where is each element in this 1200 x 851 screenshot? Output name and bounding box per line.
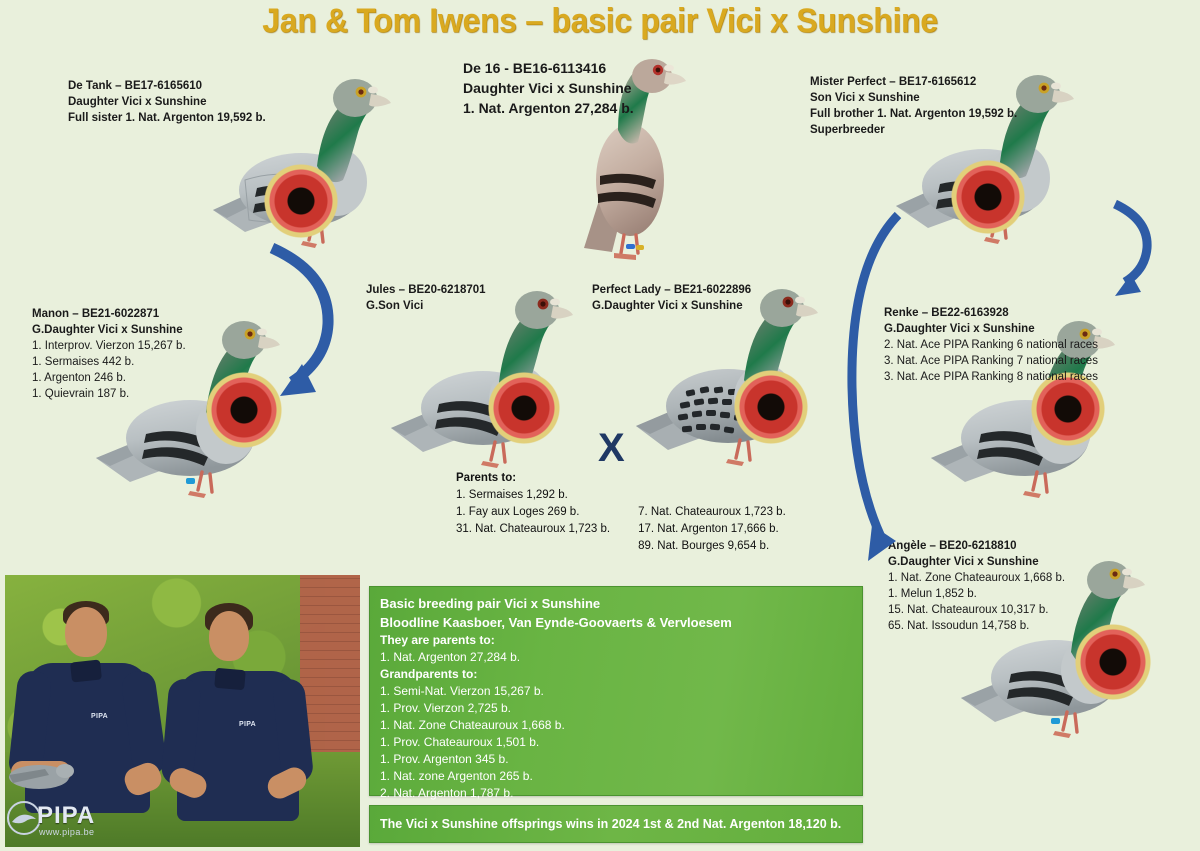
info-grandparents-item: 1. Prov. Chateauroux 1,501 b. <box>380 734 862 751</box>
eye-closeup-angele <box>1074 624 1152 700</box>
parents-to-block: Parents to: 1. Sermaises 1,292 b. 1. Fay… <box>456 470 786 555</box>
arrow-right-column-long <box>842 205 912 565</box>
label-jules: Jules – BE20-6218701 G.Son Vici <box>366 282 486 314</box>
info-grandparents-item: 1. Semi-Nat. Vierzon 15,267 b. <box>380 683 862 700</box>
label-de-tank: De Tank – BE17-6165610 Daughter Vici x S… <box>68 78 266 126</box>
label-renke: Renke – BE22-6163928 G.Daughter Vici x S… <box>884 305 1098 385</box>
label-mister-perfect: Mister Perfect – BE17-6165612 Son Vici x… <box>810 74 1017 138</box>
eye-closeup-de-tank <box>263 164 339 238</box>
face <box>65 607 107 657</box>
held-pigeon <box>5 757 75 797</box>
arrow-de-tank-to-manon <box>244 236 364 396</box>
label-de-16: De 16 - BE16-6113416 Daughter Vici x Sun… <box>463 58 634 118</box>
info-parents-heading: They are parents to: <box>380 632 862 649</box>
label-perfect-lady: Perfect Lady – BE21-6022896 G.Daughter V… <box>592 282 751 314</box>
cross-symbol: X <box>598 426 625 471</box>
info-grandparents-heading: Grandparents to: <box>380 666 862 683</box>
info-line-1: Basic breeding pair Vici x Sunshine <box>380 594 862 613</box>
polo-logo-left: PIPA <box>91 713 108 720</box>
page-title: Jan & Tom Iwens – basic pair Vici x Suns… <box>36 2 1164 41</box>
pipa-bird-icon <box>11 812 37 826</box>
arrow-mister-perfect-loop <box>1093 196 1159 296</box>
eye-closeup-perfect-lady <box>733 370 809 444</box>
face <box>209 611 249 661</box>
info-grandparents-item: 1. Nat. zone Argenton 265 b. <box>380 768 862 785</box>
parents-to-heading: Parents to: <box>456 470 786 487</box>
polo-logo-right: PIPA <box>239 721 256 728</box>
parents-to-column-left: 1. Sermaises 1,292 b. 1. Fay aux Loges 2… <box>456 487 610 555</box>
eye-closeup-jules <box>487 372 561 444</box>
footer-banner: The Vici x Sunshine offsprings wins in 2… <box>369 805 863 843</box>
collar <box>214 668 246 691</box>
pipa-logo: PIPA www.pipa.be <box>5 800 125 847</box>
info-grandparents-item: 2. Nat. Argenton 1,787 b. <box>380 785 862 802</box>
info-grandparents-item: 1. Prov. Argenton 345 b. <box>380 751 862 768</box>
label-manon: Manon – BE21-6022871 G.Daughter Vici x S… <box>32 306 186 402</box>
pipa-logo-text: PIPA <box>37 802 95 830</box>
collar <box>70 659 102 682</box>
pipa-logo-url: www.pipa.be <box>39 827 94 837</box>
parents-to-column-right: 7. Nat. Chateauroux 1,723 b. 17. Nat. Ar… <box>638 487 786 555</box>
info-line-2: Bloodline Kaasboer, Van Eynde-Goovaerts … <box>380 613 862 632</box>
info-grandparents-item: 1. Nat. Zone Chateauroux 1,668 b. <box>380 717 862 734</box>
breeding-info-box: Basic breeding pair Vici x Sunshine Bloo… <box>369 586 863 796</box>
info-grandparents-item: 1. Prov. Vierzon 2,725 b. <box>380 700 862 717</box>
info-parents-item: 1. Nat. Argenton 27,284 b. <box>380 649 862 666</box>
label-angele: Angèle – BE20-6218810 G.Daughter Vici x … <box>888 538 1065 634</box>
eye-closeup-mister-perfect <box>950 160 1026 234</box>
pedigree-poster: Jan & Tom Iwens – basic pair Vici x Suns… <box>0 0 1200 851</box>
